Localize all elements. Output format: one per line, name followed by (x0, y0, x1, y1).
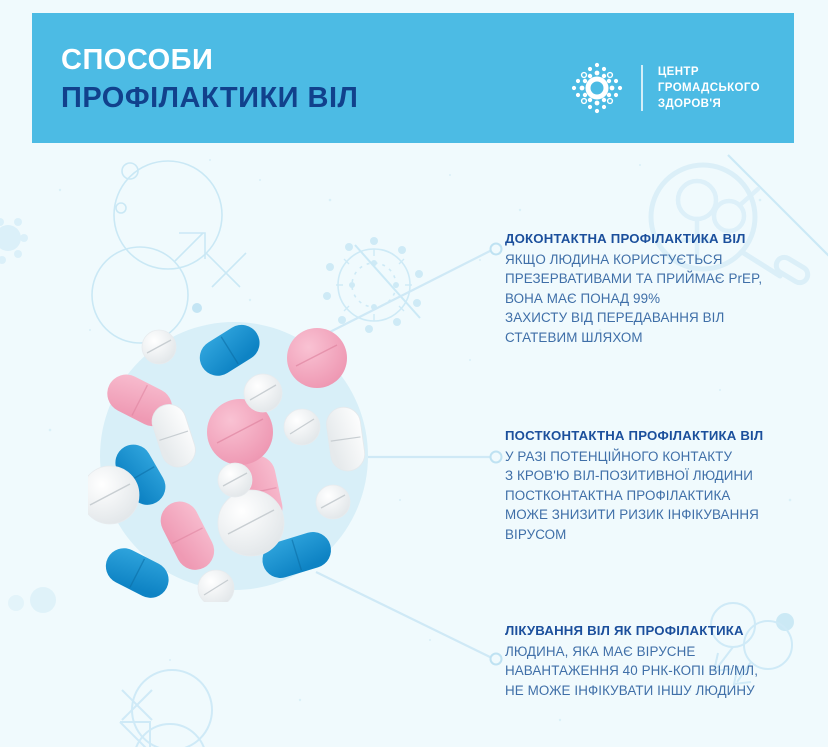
body-line: ПРЕЗЕРВАТИВАМИ ТА ПРИЙМАЄ PrEP, (505, 269, 815, 289)
body-line: ЯКЩО ЛЮДИНА КОРИСТУЄТЬСЯ (505, 250, 815, 270)
info-block-body: ЛЮДИНА, ЯКА МАЄ ВІРУСНЕ НАВАНТАЖЕННЯ 40 … (505, 642, 815, 701)
logo-text-line-2: ГРОМАДСЬКОГО (658, 80, 760, 96)
info-block-heading: ДОКОНТАКТНА ПРОФІЛАКТИКА ВІЛ (505, 230, 815, 249)
body-line: МОЖЕ ЗНИЗИТИ РИЗИК ІНФІКУВАННЯ (505, 505, 815, 525)
body-line: ВІРУСОМ (505, 525, 815, 545)
title-line-1: СПОСОБИ (61, 41, 358, 79)
info-block-body: ЯКЩО ЛЮДИНА КОРИСТУЄТЬСЯ ПРЕЗЕРВАТИВАМИ … (505, 250, 815, 348)
info-block-body: У РАЗІ ПОТЕНЦІЙНОГО КОНТАКТУ З КРОВ'Ю ВІ… (505, 447, 815, 545)
body-line: НАВАНТАЖЕННЯ 40 РНК-КОПІ ВІЛ/МЛ, (505, 661, 815, 681)
header-banner: СПОСОБИ ПРОФІЛАКТИКИ ВІЛ (32, 13, 794, 143)
heading-line-2: ПРОФІЛАКТИКА ВІЛ (611, 231, 746, 246)
heading-line-2: ПРОФІЛАКТИКА ВІЛ (629, 428, 764, 443)
radial-dot-emblem-icon (568, 59, 626, 117)
body-line: ЛЮДИНА, ЯКА МАЄ ВІРУСНЕ (505, 642, 815, 662)
heading-line-1: ДОКОНТАКТНА (505, 231, 607, 246)
logo-divider (641, 65, 643, 111)
logo-text: ЦЕНТР ГРОМАДСЬКОГО ЗДОРОВ'Я (658, 64, 760, 113)
body-line: ЗАХИСТУ ВІД ПЕРЕДАВАННЯ ВІЛ (505, 308, 815, 328)
body-line: НЕ МОЖЕ ІНФІКУВАТИ ІНШУ ЛЮДИНУ (505, 681, 815, 701)
body-line: ПОСТКОНТАКТНА ПРОФІЛАКТИКА (505, 486, 815, 506)
organization-logo: ЦЕНТР ГРОМАДСЬКОГО ЗДОРОВ'Я (568, 59, 760, 117)
heading-line-2: ЯК ПРОФІЛАКТИКА (614, 623, 744, 638)
connector-endpoint-1 (491, 244, 502, 255)
heading-line-1: ЛІКУВАННЯ ВІЛ (505, 623, 610, 638)
info-block-pep: ПОСТКОНТАКТНА ПРОФІЛАКТИКА ВІЛ У РАЗІ ПО… (505, 427, 815, 545)
body-line: У РАЗІ ПОТЕНЦІЙНОГО КОНТАКТУ (505, 447, 815, 467)
info-block-prep: ДОКОНТАКТНА ПРОФІЛАКТИКА ВІЛ ЯКЩО ЛЮДИНА… (505, 230, 815, 348)
pills-illustration (88, 310, 380, 602)
body-line: ВОНА МАЄ ПОНАД 99% (505, 289, 815, 309)
logo-text-line-1: ЦЕНТР (658, 64, 760, 80)
title-line-2: ПРОФІЛАКТИКИ ВІЛ (61, 79, 358, 117)
page-title: СПОСОБИ ПРОФІЛАКТИКИ ВІЛ (61, 41, 358, 118)
body-line: З КРОВ'Ю ВІЛ-ПОЗИТИВНОЇ ЛЮДИНИ (505, 466, 815, 486)
heading-line-1: ПОСТКОНТАКТНА (505, 428, 625, 443)
connector-endpoint-3 (491, 654, 502, 665)
connector-endpoint-2 (491, 452, 502, 463)
infographic-canvas: СПОСОБИ ПРОФІЛАКТИКИ ВІЛ (0, 0, 828, 747)
info-block-heading: ПОСТКОНТАКТНА ПРОФІЛАКТИКА ВІЛ (505, 427, 815, 446)
logo-text-line-3: ЗДОРОВ'Я (658, 96, 760, 112)
body-line: СТАТЕВИМ ШЛЯХОМ (505, 328, 815, 348)
info-block-treatment: ЛІКУВАННЯ ВІЛ ЯК ПРОФІЛАКТИКА ЛЮДИНА, ЯК… (505, 622, 815, 700)
info-block-heading: ЛІКУВАННЯ ВІЛ ЯК ПРОФІЛАКТИКА (505, 622, 815, 641)
